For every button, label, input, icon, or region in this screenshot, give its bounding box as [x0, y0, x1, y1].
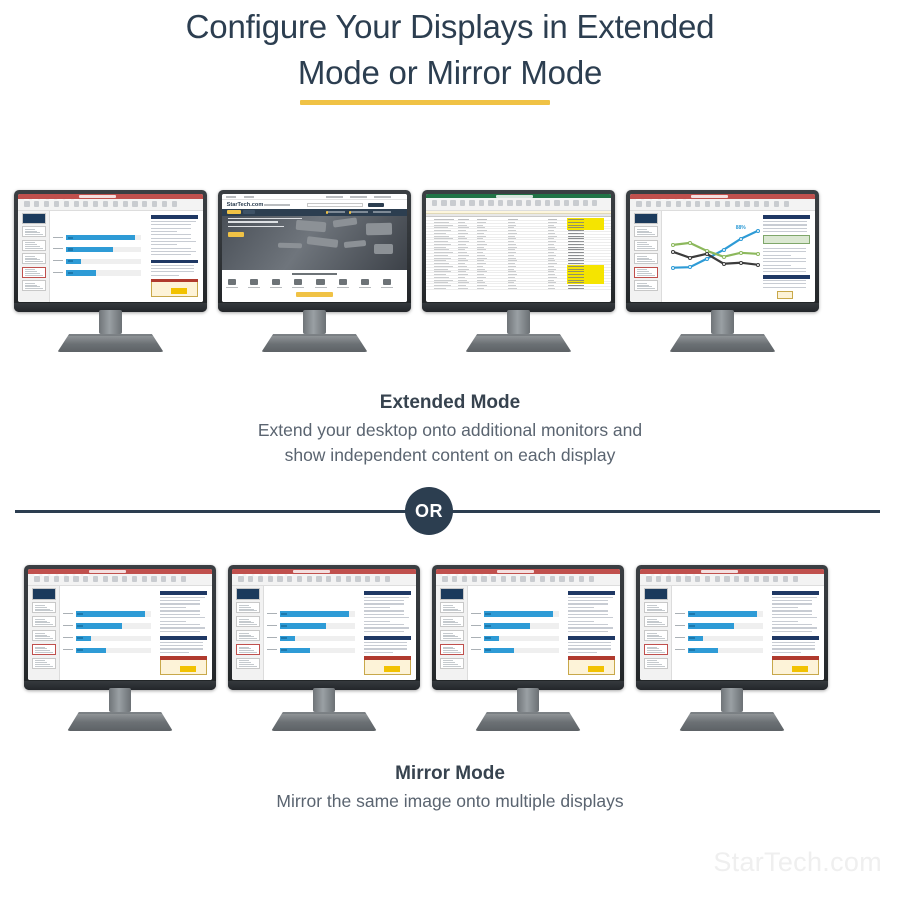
bar-value-label	[68, 237, 73, 239]
ribbon-tool-icon[interactable]	[666, 201, 671, 207]
info-panel-heading	[772, 591, 819, 595]
ribbon-tool-icon[interactable]	[784, 201, 789, 207]
table-cell	[568, 219, 585, 220]
ribbon-tool-icon[interactable]	[481, 576, 486, 582]
ribbon-tool-icon[interactable]	[579, 576, 584, 582]
ribbon-tool-icon[interactable]	[34, 576, 39, 582]
ribbon-tool-icon[interactable]	[24, 201, 29, 207]
ribbon-tool-icon[interactable]	[122, 576, 127, 582]
ribbon-tool-icon[interactable]	[685, 576, 690, 582]
slide-thumbnail[interactable]	[440, 602, 464, 613]
ribbon-tool-icon[interactable]	[656, 576, 661, 582]
ribbon-tool-icon[interactable]	[783, 576, 788, 582]
ribbon-tool-icon[interactable]	[93, 576, 98, 582]
slide-thumbnail[interactable]	[22, 240, 46, 251]
ribbon-tool-icon[interactable]	[151, 576, 156, 582]
slide-thumbnail[interactable]	[32, 644, 56, 655]
account-link[interactable]	[326, 196, 344, 198]
column-header-row[interactable]	[426, 214, 611, 217]
ribbon-tool-icon[interactable]	[432, 200, 438, 206]
slide-thumbnail[interactable]	[236, 616, 260, 627]
ribbon-tool-icon[interactable]	[54, 201, 59, 207]
ribbon-tool-icon[interactable]	[666, 576, 671, 582]
ribbon-tool-icon[interactable]	[365, 576, 370, 582]
thumbnail-line	[239, 610, 257, 611]
hero-product-image	[374, 244, 393, 254]
slide-thumbnail[interactable]	[634, 226, 658, 237]
monitor-bezel	[228, 565, 420, 690]
thumbnail-line	[239, 652, 257, 653]
table-highlight-cell	[588, 666, 604, 672]
ribbon-tool-icon[interactable]	[695, 201, 700, 207]
nav-support-button[interactable]	[243, 210, 255, 214]
slide-thumbnail[interactable]	[22, 253, 46, 264]
table-header-row	[151, 279, 198, 283]
ribbon-tool-icon[interactable]	[132, 201, 137, 207]
ribbon-menu-item[interactable]	[670, 574, 676, 575]
ribbon-tool-icon[interactable]	[132, 576, 137, 582]
ribbon-tool-icon[interactable]	[715, 576, 720, 582]
table-cell	[458, 271, 466, 272]
thumbnail-line	[25, 244, 38, 245]
slide-thumbnail[interactable]	[236, 630, 260, 641]
ribbon-tool-icon[interactable]	[530, 576, 535, 582]
slide-thumbnail[interactable]	[440, 630, 464, 641]
info-panel-text-line	[568, 648, 611, 649]
page-title-line1: Configure Your Displays in Extended	[186, 8, 715, 45]
ribbon-tool-icon[interactable]	[715, 201, 720, 207]
bar-value-label	[485, 613, 490, 615]
mirror-mode-title: Mirror Mode	[0, 763, 900, 785]
ribbon-menu-item[interactable]	[75, 574, 81, 575]
ribbon-tool-icon[interactable]	[526, 200, 532, 206]
monitor-screen[interactable]	[426, 194, 611, 302]
ribbon-tool-icon[interactable]	[676, 576, 681, 582]
ribbon-menu-item[interactable]	[687, 574, 693, 575]
ribbon-tool-icon[interactable]	[501, 576, 506, 582]
monitor-screen[interactable]	[232, 569, 416, 680]
ribbon-tool-icon[interactable]	[754, 201, 759, 207]
table-cell	[548, 269, 556, 270]
info-panel-text-line	[151, 224, 191, 225]
table-cell	[434, 219, 453, 220]
table-cell	[458, 288, 468, 289]
ribbon-tool-icon[interactable]	[498, 200, 504, 206]
slide-thumbnail[interactable]	[22, 280, 46, 291]
ribbon-tool-icon[interactable]	[248, 576, 253, 582]
thumbnail-line	[443, 624, 461, 625]
ribbon-menu-item[interactable]	[83, 574, 89, 575]
category-icon[interactable]	[316, 279, 324, 285]
ribbon-tool-icon[interactable]	[793, 576, 798, 582]
ribbon-tool-icon[interactable]	[287, 576, 292, 582]
nav-promo-link[interactable]	[350, 211, 369, 213]
category-icon[interactable]	[272, 279, 280, 285]
slide-thumbnail[interactable]	[634, 240, 658, 251]
ribbon-tool-icon[interactable]	[258, 576, 263, 582]
ribbon-tool-icon[interactable]	[564, 200, 570, 206]
ribbon-tool-icon[interactable]	[469, 200, 475, 206]
monitor-screen[interactable]	[18, 194, 203, 302]
thumbnail-line	[25, 259, 40, 260]
thumbnail-line	[443, 622, 458, 623]
table-cell	[458, 285, 466, 286]
ribbon-menu-item[interactable]	[475, 574, 481, 575]
ribbon-tool-icon[interactable]	[307, 576, 312, 582]
ribbon-tool-icon[interactable]	[646, 201, 651, 207]
table-cell	[434, 249, 449, 250]
thumbnail-line	[647, 652, 665, 653]
site-logo[interactable]: StarTech.com	[227, 202, 264, 208]
ribbon-menu-item[interactable]	[483, 574, 489, 575]
slide-thumbnail[interactable]	[440, 658, 464, 669]
bar-category-label	[267, 649, 277, 650]
monitor-screen[interactable]	[436, 569, 620, 680]
slide-thumbnail[interactable]	[440, 644, 464, 655]
category-icon[interactable]	[228, 279, 236, 285]
ribbon-tool-icon[interactable]	[441, 200, 447, 206]
ribbon-menu-item[interactable]	[262, 574, 268, 575]
slide-thumbnail[interactable]	[32, 588, 56, 599]
ribbon-tool-icon[interactable]	[142, 576, 147, 582]
ribbon-tool-icon[interactable]	[735, 201, 740, 207]
ribbon-tool-icon[interactable]	[734, 576, 739, 582]
slide-thumbnail[interactable]	[440, 616, 464, 627]
thumbnail-line	[25, 258, 38, 259]
ribbon-tool-icon[interactable]	[450, 200, 456, 206]
ribbon-tool-icon[interactable]	[540, 576, 545, 582]
ribbon-tool-icon[interactable]	[171, 576, 176, 582]
ribbon-tool-icon[interactable]	[535, 200, 541, 206]
ribbon-tool-icon[interactable]	[355, 576, 360, 582]
thumbnail-line	[443, 633, 453, 634]
info-panel-text-line	[763, 248, 806, 249]
ribbon-tool-icon[interactable]	[93, 201, 98, 207]
bar-category-label	[53, 260, 63, 261]
ribbon-tool-icon[interactable]	[686, 201, 691, 207]
category-icon[interactable]	[250, 279, 258, 285]
monitor-screen[interactable]	[28, 569, 212, 680]
ribbon-tool-icon[interactable]	[744, 576, 749, 582]
nav-promo-link[interactable]	[373, 211, 392, 213]
slide-thumbnail[interactable]	[22, 267, 46, 278]
ribbon-menu-item[interactable]	[34, 574, 40, 575]
ribbon-tool-icon[interactable]	[569, 576, 574, 582]
category-icon[interactable]	[361, 279, 369, 285]
bar-fill	[484, 611, 553, 616]
ribbon-tool-icon[interactable]	[479, 200, 485, 206]
thumbnail-line	[25, 246, 40, 247]
ribbon-menu-item[interactable]	[50, 574, 56, 575]
table-cell	[434, 274, 446, 275]
category-icon[interactable]	[294, 279, 302, 285]
ribbon-tool-icon[interactable]	[583, 200, 589, 206]
ribbon-tool-icon[interactable]	[764, 201, 769, 207]
ribbon-tool-icon[interactable]	[64, 576, 69, 582]
info-panel-text-line	[364, 600, 404, 601]
ribbon-tool-icon[interactable]	[763, 576, 768, 582]
bar-category-label	[267, 625, 277, 626]
ribbon-menu-item[interactable]	[246, 574, 252, 575]
category-icon[interactable]	[383, 279, 391, 285]
slide-thumbnail[interactable]	[644, 630, 668, 641]
info-panel-text-line	[151, 231, 177, 232]
table-cell	[434, 225, 453, 226]
ribbon-tool-icon[interactable]	[64, 201, 69, 207]
table-cell	[508, 260, 517, 261]
ribbon-menu-item[interactable]	[287, 574, 293, 575]
table-cell	[458, 282, 469, 283]
see-all-categories-button[interactable]	[296, 292, 333, 297]
thumbnail-line	[239, 624, 257, 625]
ribbon-tool-icon[interactable]	[326, 576, 331, 582]
ribbon-tool-icon[interactable]	[385, 576, 390, 582]
ribbon-menu-item[interactable]	[491, 574, 497, 575]
table-cell	[477, 263, 486, 264]
monitor-3	[422, 190, 615, 312]
bar-category-label	[471, 637, 481, 638]
ribbon-tool-icon[interactable]	[152, 201, 157, 207]
slide-thumbnail[interactable]	[236, 602, 260, 613]
slide-thumbnail[interactable]	[22, 213, 46, 224]
ribbon-tool-icon[interactable]	[507, 200, 513, 206]
table-cell	[434, 269, 447, 270]
ribbon-menu-item[interactable]	[42, 574, 48, 575]
slide-thumbnail[interactable]	[644, 616, 668, 627]
ribbon-menu-item[interactable]	[58, 574, 64, 575]
ribbon-tool-icon[interactable]	[520, 576, 525, 582]
monitor-screen[interactable]: StarTech.com	[222, 194, 407, 302]
ribbon-tool-icon[interactable]	[676, 201, 681, 207]
ribbon-tool-icon[interactable]	[754, 576, 759, 582]
document-title-tab	[701, 570, 738, 573]
table-cell	[458, 277, 465, 278]
table-cell	[434, 277, 449, 278]
ribbon-tool-icon[interactable]	[238, 576, 243, 582]
ribbon-tool-icon[interactable]	[589, 576, 594, 582]
thumbnail-line	[647, 666, 665, 667]
slide-thumbnail[interactable]	[236, 658, 260, 669]
ribbon-tool-icon[interactable]	[488, 200, 494, 206]
ribbon-tool-icon[interactable]	[491, 576, 496, 582]
table-cell	[477, 219, 487, 220]
ribbon-menu-item[interactable]	[458, 574, 464, 575]
ribbon-menu-item[interactable]	[662, 574, 668, 575]
thumbnail-line	[647, 621, 659, 622]
slide-thumbnail[interactable]	[644, 588, 668, 599]
search-button[interactable]	[368, 203, 384, 207]
ribbon-tool-icon[interactable]	[573, 200, 579, 206]
ribbon-tool-icon[interactable]	[83, 576, 88, 582]
ribbon-tool-icon[interactable]	[462, 576, 467, 582]
ribbon-tool-icon[interactable]	[656, 201, 661, 207]
slide-thumbnail[interactable]	[22, 226, 46, 237]
monitor-screen[interactable]	[640, 569, 824, 680]
slide-thumbnail[interactable]	[32, 616, 56, 627]
ribbon-menu-item[interactable]	[254, 574, 260, 575]
utility-link[interactable]	[226, 196, 236, 198]
slide-thumbnail[interactable]	[236, 644, 260, 655]
slide-thumbnail[interactable]	[440, 588, 464, 599]
thumbnail-line	[637, 248, 655, 249]
ribbon-tool-icon[interactable]	[375, 576, 380, 582]
account-link[interactable]	[374, 196, 392, 198]
bar-category-label	[53, 272, 63, 273]
thumbnail-line	[35, 648, 47, 649]
ribbon-tool-icon[interactable]	[725, 201, 730, 207]
ribbon-menu-item[interactable]	[679, 574, 685, 575]
table-cell	[477, 266, 483, 267]
ribbon-tool-icon[interactable]	[268, 576, 273, 582]
utility-link[interactable]	[244, 196, 254, 198]
thumbnail-line	[25, 285, 38, 286]
ribbon-tool-icon[interactable]	[516, 200, 522, 206]
monitor-1	[14, 190, 207, 312]
popular-categories-title	[292, 273, 336, 275]
ribbon-tool-icon[interactable]	[103, 576, 108, 582]
ribbon-tool-icon[interactable]	[142, 201, 147, 207]
ribbon-tool-icon[interactable]	[442, 576, 447, 582]
hero-cta-button[interactable]	[228, 232, 244, 237]
monitor-screen[interactable]: 88%	[630, 194, 815, 302]
ribbon-tool-icon[interactable]	[73, 576, 78, 582]
category-icon[interactable]	[339, 279, 347, 285]
slide-thumbnail[interactable]	[644, 644, 668, 655]
ribbon-tool-icon[interactable]	[54, 576, 59, 582]
slide-thumbnail[interactable]	[32, 630, 56, 641]
document-title-tab	[79, 195, 116, 198]
ribbon-menu-item[interactable]	[238, 574, 244, 575]
info-panel-text-line	[364, 614, 404, 615]
ribbon-menu-item[interactable]	[695, 574, 701, 575]
ribbon-menu-item[interactable]	[646, 574, 652, 575]
slide-thumbnail[interactable]	[634, 280, 658, 291]
ribbon-tool-icon[interactable]	[545, 200, 551, 206]
table-cell	[458, 258, 466, 259]
ribbon-tool-icon[interactable]	[724, 576, 729, 582]
ribbon-tool-icon[interactable]	[636, 201, 641, 207]
ribbon-tool-icon[interactable]	[297, 576, 302, 582]
table-cell	[568, 247, 585, 248]
ribbon-tool-icon[interactable]	[550, 576, 555, 582]
ribbon-menu-item[interactable]	[442, 574, 448, 575]
bar-value-label	[77, 649, 82, 651]
table-cell	[477, 277, 486, 278]
info-panel-text-line	[772, 627, 817, 628]
ribbon-menu-item[interactable]	[466, 574, 472, 575]
table-cell	[477, 241, 485, 242]
ribbon-tool-icon[interactable]	[744, 201, 749, 207]
table-cell	[568, 263, 585, 264]
ribbon-tool-icon[interactable]	[44, 201, 49, 207]
ribbon-tool-icon[interactable]	[162, 201, 167, 207]
ribbon-menu-item[interactable]	[654, 574, 660, 575]
ribbon-tool-icon[interactable]	[472, 576, 477, 582]
ribbon-menu-item[interactable]	[450, 574, 456, 575]
nav-products-button[interactable]	[227, 210, 241, 214]
table-cell	[548, 227, 556, 228]
ribbon-tool-icon[interactable]	[346, 576, 351, 582]
ribbon-tool-icon[interactable]	[695, 576, 700, 582]
ribbon-tool-icon[interactable]	[123, 201, 128, 207]
slide-thumbnail[interactable]	[634, 267, 658, 278]
ribbon-tool-icon[interactable]	[112, 576, 117, 582]
slide-thumbnail[interactable]	[236, 588, 260, 599]
ribbon-tool-icon[interactable]	[103, 201, 108, 207]
account-link[interactable]	[350, 196, 368, 198]
slide-thumbnail[interactable]	[634, 213, 658, 224]
ribbon-tool-icon[interactable]	[172, 201, 177, 207]
thumbnail-line	[35, 605, 45, 606]
thumbnail-line	[443, 619, 453, 620]
bar-fill	[280, 611, 349, 616]
ribbon-tool-icon[interactable]	[705, 576, 710, 582]
ribbon-tool-icon[interactable]	[511, 576, 516, 582]
table-cell	[434, 280, 453, 281]
slide-thumbnail[interactable]	[634, 253, 658, 264]
ribbon-tool-icon[interactable]	[452, 576, 457, 582]
bar-category-label	[63, 649, 73, 650]
ribbon-tool-icon[interactable]	[774, 201, 779, 207]
ribbon-tool-icon[interactable]	[460, 200, 466, 206]
thumbnail-line	[637, 286, 652, 287]
info-panel-text-line	[772, 603, 812, 604]
bar-value-label	[77, 613, 82, 615]
ribbon-tool-icon[interactable]	[83, 201, 88, 207]
nav-promo-link[interactable]	[327, 211, 346, 213]
ribbon-tool-icon[interactable]	[592, 200, 598, 206]
ribbon-tool-icon[interactable]	[554, 200, 560, 206]
info-panel-text-line	[568, 603, 608, 604]
ribbon-menu-item[interactable]	[271, 574, 277, 575]
ribbon-tool-icon[interactable]	[336, 576, 341, 582]
table-cell	[477, 249, 486, 250]
bar-value-label	[281, 649, 286, 651]
ribbon-tool-icon[interactable]	[113, 201, 118, 207]
table-cell	[477, 233, 484, 234]
table-cell	[568, 238, 585, 239]
ribbon-tool-icon[interactable]	[773, 576, 778, 582]
ribbon-tool-icon[interactable]	[646, 576, 651, 582]
ribbon-tool-icon[interactable]	[34, 201, 39, 207]
ribbon-tool-icon[interactable]	[74, 201, 79, 207]
search-input[interactable]	[307, 203, 363, 207]
ribbon-tool-icon[interactable]	[181, 576, 186, 582]
table-cell	[458, 247, 468, 248]
slide-thumbnail[interactable]	[32, 602, 56, 613]
thumbnail-line	[647, 650, 662, 651]
table-cell	[548, 266, 554, 267]
ribbon-tool-icon[interactable]	[705, 201, 710, 207]
table-cell	[458, 222, 465, 223]
ribbon-tool-icon[interactable]	[277, 576, 282, 582]
ribbon-tool-icon[interactable]	[316, 576, 321, 582]
slide-thumbnail[interactable]	[32, 658, 56, 669]
ribbon-menu-item[interactable]	[279, 574, 285, 575]
line-chart-point	[688, 256, 692, 260]
thumbnail-line	[35, 636, 50, 637]
slide-thumbnail[interactable]	[644, 602, 668, 613]
document-title-tab	[89, 570, 126, 573]
thumbnail-line	[25, 242, 35, 243]
slide-thumbnail[interactable]	[644, 658, 668, 669]
line-chart-point	[739, 251, 743, 255]
ribbon-tool-icon[interactable]	[44, 576, 49, 582]
ribbon-menu-item[interactable]	[67, 574, 73, 575]
ribbon-tool-icon[interactable]	[559, 576, 564, 582]
ribbon-tool-icon[interactable]	[161, 576, 166, 582]
table-cell	[508, 280, 516, 281]
